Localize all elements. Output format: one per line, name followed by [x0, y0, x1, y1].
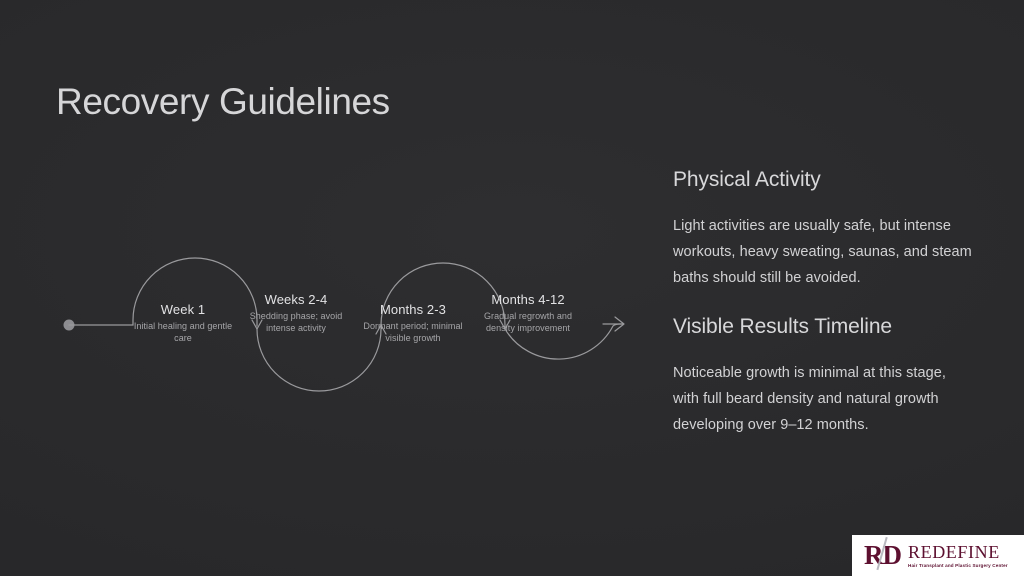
- section-heading-physical-activity: Physical Activity: [673, 166, 973, 194]
- logo-name: REDEFINE: [908, 543, 1008, 562]
- timeline-node-desc: Gradual regrowth and density improvement: [473, 311, 583, 334]
- timeline-node-title: Week 1: [128, 302, 238, 317]
- page-title: Recovery Guidelines: [56, 81, 390, 123]
- content-panel: Physical Activity Light activities are u…: [673, 166, 973, 438]
- timeline-node-months-2-3[interactable]: Months 2-3 Dormant period; minimal visib…: [363, 302, 463, 344]
- timeline-node-title: Months 4-12: [473, 292, 583, 307]
- timeline-node-desc: Shedding phase; avoid intense activity: [245, 311, 347, 334]
- brand-logo: RD REDEFINE Hair Transplant and Plastic …: [852, 535, 1024, 576]
- section-body-physical-activity: Light activities are usually safe, but i…: [673, 213, 973, 291]
- logo-monogram: RD: [864, 542, 901, 569]
- timeline-node-title: Weeks 2-4: [245, 292, 347, 307]
- timeline-node-desc: Dormant period; minimal visible growth: [363, 321, 463, 344]
- timeline-node-desc: Initial healing and gentle care: [128, 321, 238, 344]
- slide-root: Recovery Guidelines Week 1 Initial: [0, 0, 1024, 576]
- section-body-visible-results-timeline: Noticeable growth is minimal at this sta…: [673, 360, 973, 438]
- section-heading-visible-results-timeline: Visible Results Timeline: [673, 313, 973, 341]
- timeline-node-months-4-12[interactable]: Months 4-12 Gradual regrowth and density…: [473, 292, 583, 334]
- logo-wordmark-group: REDEFINE Hair Transplant and Plastic Sur…: [908, 543, 1008, 569]
- timeline-node-weeks-2-4[interactable]: Weeks 2-4 Shedding phase; avoid intense …: [245, 292, 347, 334]
- logo-tagline: Hair Transplant and Plastic Surgery Cent…: [908, 562, 1008, 569]
- timeline-node-title: Months 2-3: [363, 302, 463, 317]
- timeline-node-week-1[interactable]: Week 1 Initial healing and gentle care: [128, 302, 238, 344]
